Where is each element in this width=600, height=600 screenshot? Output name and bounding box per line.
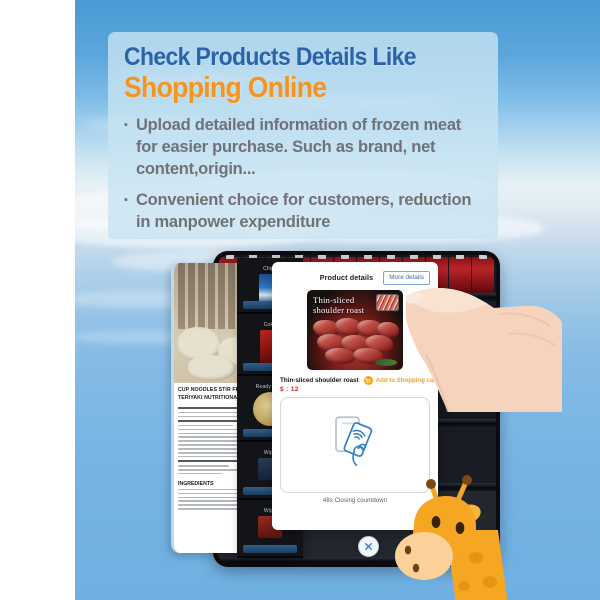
pointing-hand [404,262,564,417]
nfc-phone-tap-icon [323,412,387,475]
left-white-margin [0,0,75,600]
poster-canvas: Check Products Details Like Shopping Onl… [0,0,600,600]
bullet-item: ▪ Convenient choice for customers, reduc… [124,190,484,234]
bullet-marker-icon: ▪ [124,190,136,234]
headline-line-2: Shopping Online [124,72,455,104]
close-button[interactable] [358,536,379,557]
bullet-text: Upload detailed information of frozen me… [136,115,484,181]
modal-title: Product details [320,273,373,282]
product-thumbnail-icon [377,295,398,310]
product-name: Thin-sliced shoulder roast [280,377,359,384]
garnish-herb [375,359,397,366]
product-image-caption: Thin-slicedshoulder roast [313,295,364,316]
product-image[interactable]: Thin-slicedshoulder roast [307,290,403,370]
giraffe-mascot [380,470,520,600]
headline-line-1: Check Products Details Like [124,44,455,71]
bullet-list: ▪ Upload detailed information of frozen … [124,115,484,234]
bullet-marker-icon: ▪ [124,115,136,181]
bullet-text: Convenient choice for customers, reducti… [136,190,484,234]
headline-panel: Check Products Details Like Shopping Onl… [108,32,498,239]
bullet-item: ▪ Upload detailed information of frozen … [124,115,484,181]
shopping-cart-icon[interactable] [364,376,373,385]
